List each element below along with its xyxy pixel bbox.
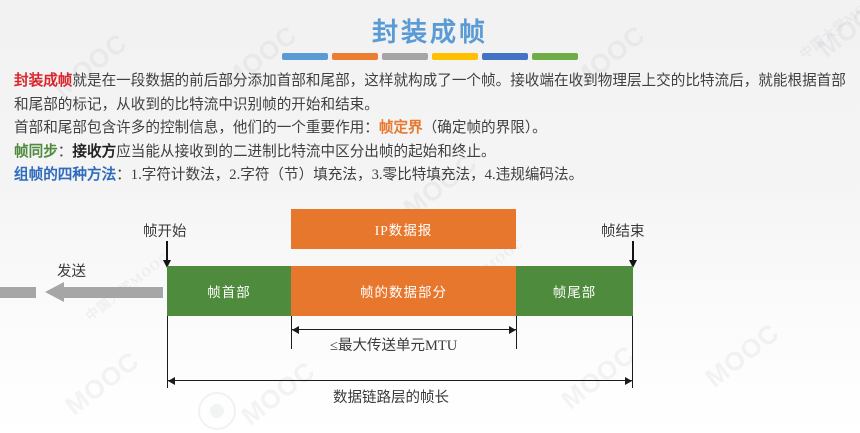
guide-line-frame-right xyxy=(632,316,633,388)
ip-datagram-label: IP数据报 xyxy=(375,219,433,239)
paragraph-definition-text: 就是在一段数据的前后部分添加首部和尾部，这样就构成了一个帧。接收端在收到物理层上… xyxy=(14,73,846,113)
frame-length-measure-line xyxy=(168,380,632,381)
frame-start-label: 帧开始 xyxy=(143,220,187,241)
keyword-four-methods: 组帧的四种方法 xyxy=(14,167,116,183)
paragraph-methods-sep: ： xyxy=(116,167,131,183)
frame-encapsulation-diagram: 帧开始 帧结束 发送 IP数据报 帧首部 帧的数据部分 帧尾部 xyxy=(0,196,860,433)
title-decorative-rule xyxy=(0,53,860,60)
frame-end-arrow-icon xyxy=(632,241,634,261)
paragraph-sync-tail: 应当能从接收到的二进制比特流中区分出帧的起始和终止。 xyxy=(116,144,495,160)
frame-data-label: 帧的数据部分 xyxy=(360,281,447,301)
paragraph-methods-items: 1.字符计数法，2.字符（节）填充法，3.零比特填充法，4.违规编码法。 xyxy=(131,167,583,183)
mtu-measure-line xyxy=(292,329,516,330)
body-text-block: 封装成帧就是在一段数据的前后部分添加首部和尾部，这样就构成了一个帧。接收端在收到… xyxy=(14,70,850,188)
frame-start-arrow-icon xyxy=(166,241,168,261)
ip-datagram-box: IP数据报 xyxy=(291,209,516,249)
paragraph-methods: 组帧的四种方法：1.字符计数法，2.字符（节）填充法，3.零比特填充法，4.违规… xyxy=(14,164,850,188)
frame-trailer-label: 帧尾部 xyxy=(553,281,597,301)
slide-canvas: MOOC MOOC MOOC MOOC MOOC MOOC MOOC MOOC … xyxy=(0,0,860,433)
frame-length-label: 数据链路层的帧长 xyxy=(333,386,449,407)
frame-data-box: 帧的数据部分 xyxy=(291,266,516,316)
frame-header-box: 帧首部 xyxy=(167,266,291,316)
keyword-frame-sync: 帧同步 xyxy=(14,144,58,160)
send-arrow-stub xyxy=(0,287,36,298)
rule-segment-3 xyxy=(382,53,428,60)
page-title: 封装成帧 xyxy=(0,12,860,49)
send-arrow-head xyxy=(45,282,64,302)
paragraph-sync: 帧同步：接收方应当能从接收到的二进制比特流中区分出帧的起始和终止。 xyxy=(14,141,850,165)
send-arrow-icon xyxy=(45,282,165,303)
paragraph-definition: 封装成帧就是在一段数据的前后部分添加首部和尾部，这样就构成了一个帧。接收端在收到… xyxy=(14,70,850,117)
send-label: 发送 xyxy=(57,260,86,281)
rule-segment-6 xyxy=(532,53,578,60)
rule-segment-1 xyxy=(282,53,328,60)
guide-line-data-right xyxy=(516,316,517,349)
paragraph-sync-sep: ： xyxy=(58,144,73,160)
frame-trailer-box: 帧尾部 xyxy=(516,266,633,316)
rule-segment-4 xyxy=(432,53,478,60)
keyword-encapsulation: 封装成帧 xyxy=(14,73,72,89)
keyword-receiver: 接收方 xyxy=(72,144,116,160)
frame-end-label: 帧结束 xyxy=(601,220,645,241)
rule-segment-2 xyxy=(332,53,378,60)
paragraph-framing-lead: 首部和尾部包含许多的控制信息，他们的一个重要作用： xyxy=(14,120,379,136)
mtu-label: ≤最大传送单元MTU xyxy=(330,334,457,355)
frame-header-label: 帧首部 xyxy=(207,281,251,301)
rule-segment-5 xyxy=(482,53,528,60)
paragraph-framing: 首部和尾部包含许多的控制信息，他们的一个重要作用：帧定界（确定帧的界限）。 xyxy=(14,117,850,141)
send-arrow-shaft xyxy=(63,287,163,298)
paragraph-framing-tail: （确定帧的界限）。 xyxy=(423,120,547,136)
keyword-frame-delimiting: 帧定界 xyxy=(379,120,423,136)
